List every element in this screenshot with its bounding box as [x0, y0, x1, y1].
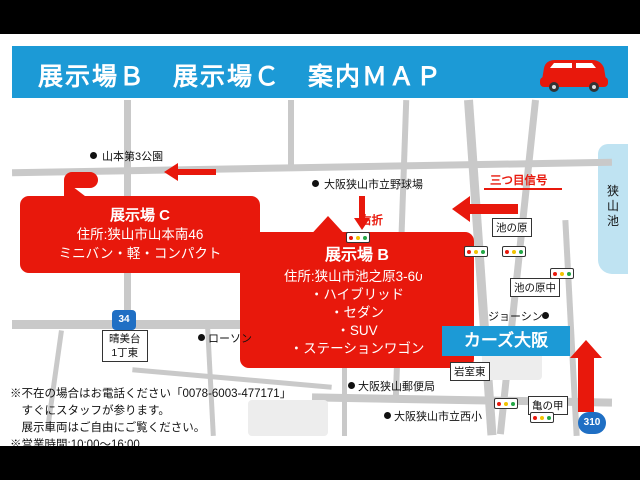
screenshot-root: 展示場Ｂ 展示場Ｃ 案内ＭＡＰ 狭山池 — [0, 0, 640, 480]
callout-exhibition-c: 展示場 C 住所:狭山市山本南46 ミニバン・軽・コンパクト — [20, 196, 260, 273]
label-joshin: ジョーシン — [488, 308, 543, 324]
dot-joshin — [542, 312, 549, 319]
notes-block: ※不在の場合はお電話ください「0078-6003-477171」 すぐにスタッフ… — [10, 386, 291, 446]
callout-b-item-2: ・SUV — [244, 322, 470, 340]
traffic-signal-3 — [502, 246, 526, 257]
car-icon — [536, 52, 612, 94]
callout-b-tail — [306, 216, 350, 240]
label-sayama-ike: 狭山池 — [604, 184, 622, 229]
callout-c-title: 展示場 C — [110, 207, 170, 224]
shop-label: カーズ大阪 — [442, 326, 570, 356]
letterbox-bottom — [0, 446, 640, 480]
dot-baseball-stadium — [312, 180, 319, 187]
red-arrow-left-2 — [452, 196, 518, 222]
annotation-third-signal: 三つ目信号 — [490, 172, 548, 188]
red-arrow-bottom-right — [564, 340, 608, 412]
note-line-0: ※不在の場合はお電話ください「0078-6003-477171」 — [10, 386, 291, 403]
road-v5-highway — [497, 100, 539, 435]
road-v2 — [288, 100, 294, 170]
route-badge-34: 34 — [112, 310, 136, 330]
label-iwamuro-higashi: 岩室東 — [450, 362, 490, 381]
callout-b-title: 展示場 B — [325, 247, 389, 264]
label-baseball-stadium: 大阪狭山市立野球場 — [324, 176, 423, 192]
note-line-2: 展示車両はご自由にご覧ください。 — [10, 420, 291, 437]
label-ikenohara-chu: 池の原中 — [510, 278, 560, 297]
callout-c-types: ミニバン・軽・コンパクト — [24, 244, 256, 263]
letterbox-top — [0, 0, 640, 34]
header-band: 展示場Ｂ 展示場Ｃ 案内ＭＡＰ — [12, 46, 628, 98]
traffic-signal-6 — [530, 412, 554, 423]
note-line-3: ※営業時間:10:00～16:00 — [10, 437, 291, 446]
red-arrow-left-1 — [164, 162, 216, 182]
traffic-signal-5 — [494, 398, 518, 409]
traffic-signal-4 — [550, 268, 574, 279]
map-flyer: 展示場Ｂ 展示場Ｃ 案内ＭＡＰ 狭山池 — [0, 34, 640, 446]
dot-post-office — [348, 382, 355, 389]
label-harumidai-block: 晴美台 1丁東 — [102, 330, 148, 362]
label-harumidai: 晴美台 — [109, 333, 141, 345]
dot-nishi-elementary — [384, 412, 391, 419]
callout-b-item-3: ・ステーションワゴン — [244, 340, 470, 358]
label-post-office: 大阪狭山郵便局 — [358, 378, 435, 394]
label-lawson: ローソン — [208, 330, 252, 346]
annotation-third-signal-underline — [484, 188, 562, 190]
red-arrow-route-to-shop — [412, 264, 448, 324]
traffic-signal-2 — [464, 246, 488, 257]
dot-lawson — [198, 334, 205, 341]
note-line-1: すぐにスタッフが参ります。 — [10, 403, 291, 420]
dot-yamamoto-park — [90, 152, 97, 159]
label-yamamoto-park: 山本第3公園 — [102, 148, 163, 164]
label-nishi-elementary: 大阪狭山市立西小 — [394, 408, 482, 424]
label-1chome-higashi: 1丁東 — [111, 347, 138, 359]
traffic-signal-1 — [346, 232, 370, 243]
route-badge-310: 310 — [578, 412, 606, 434]
red-arrow-down-1 — [354, 196, 370, 230]
callout-c-address: 住所:狭山市山本南46 — [24, 225, 256, 244]
page-title: 展示場Ｂ 展示場Ｃ 案内ＭＡＰ — [38, 57, 443, 93]
callout-c-marker — [64, 172, 98, 188]
